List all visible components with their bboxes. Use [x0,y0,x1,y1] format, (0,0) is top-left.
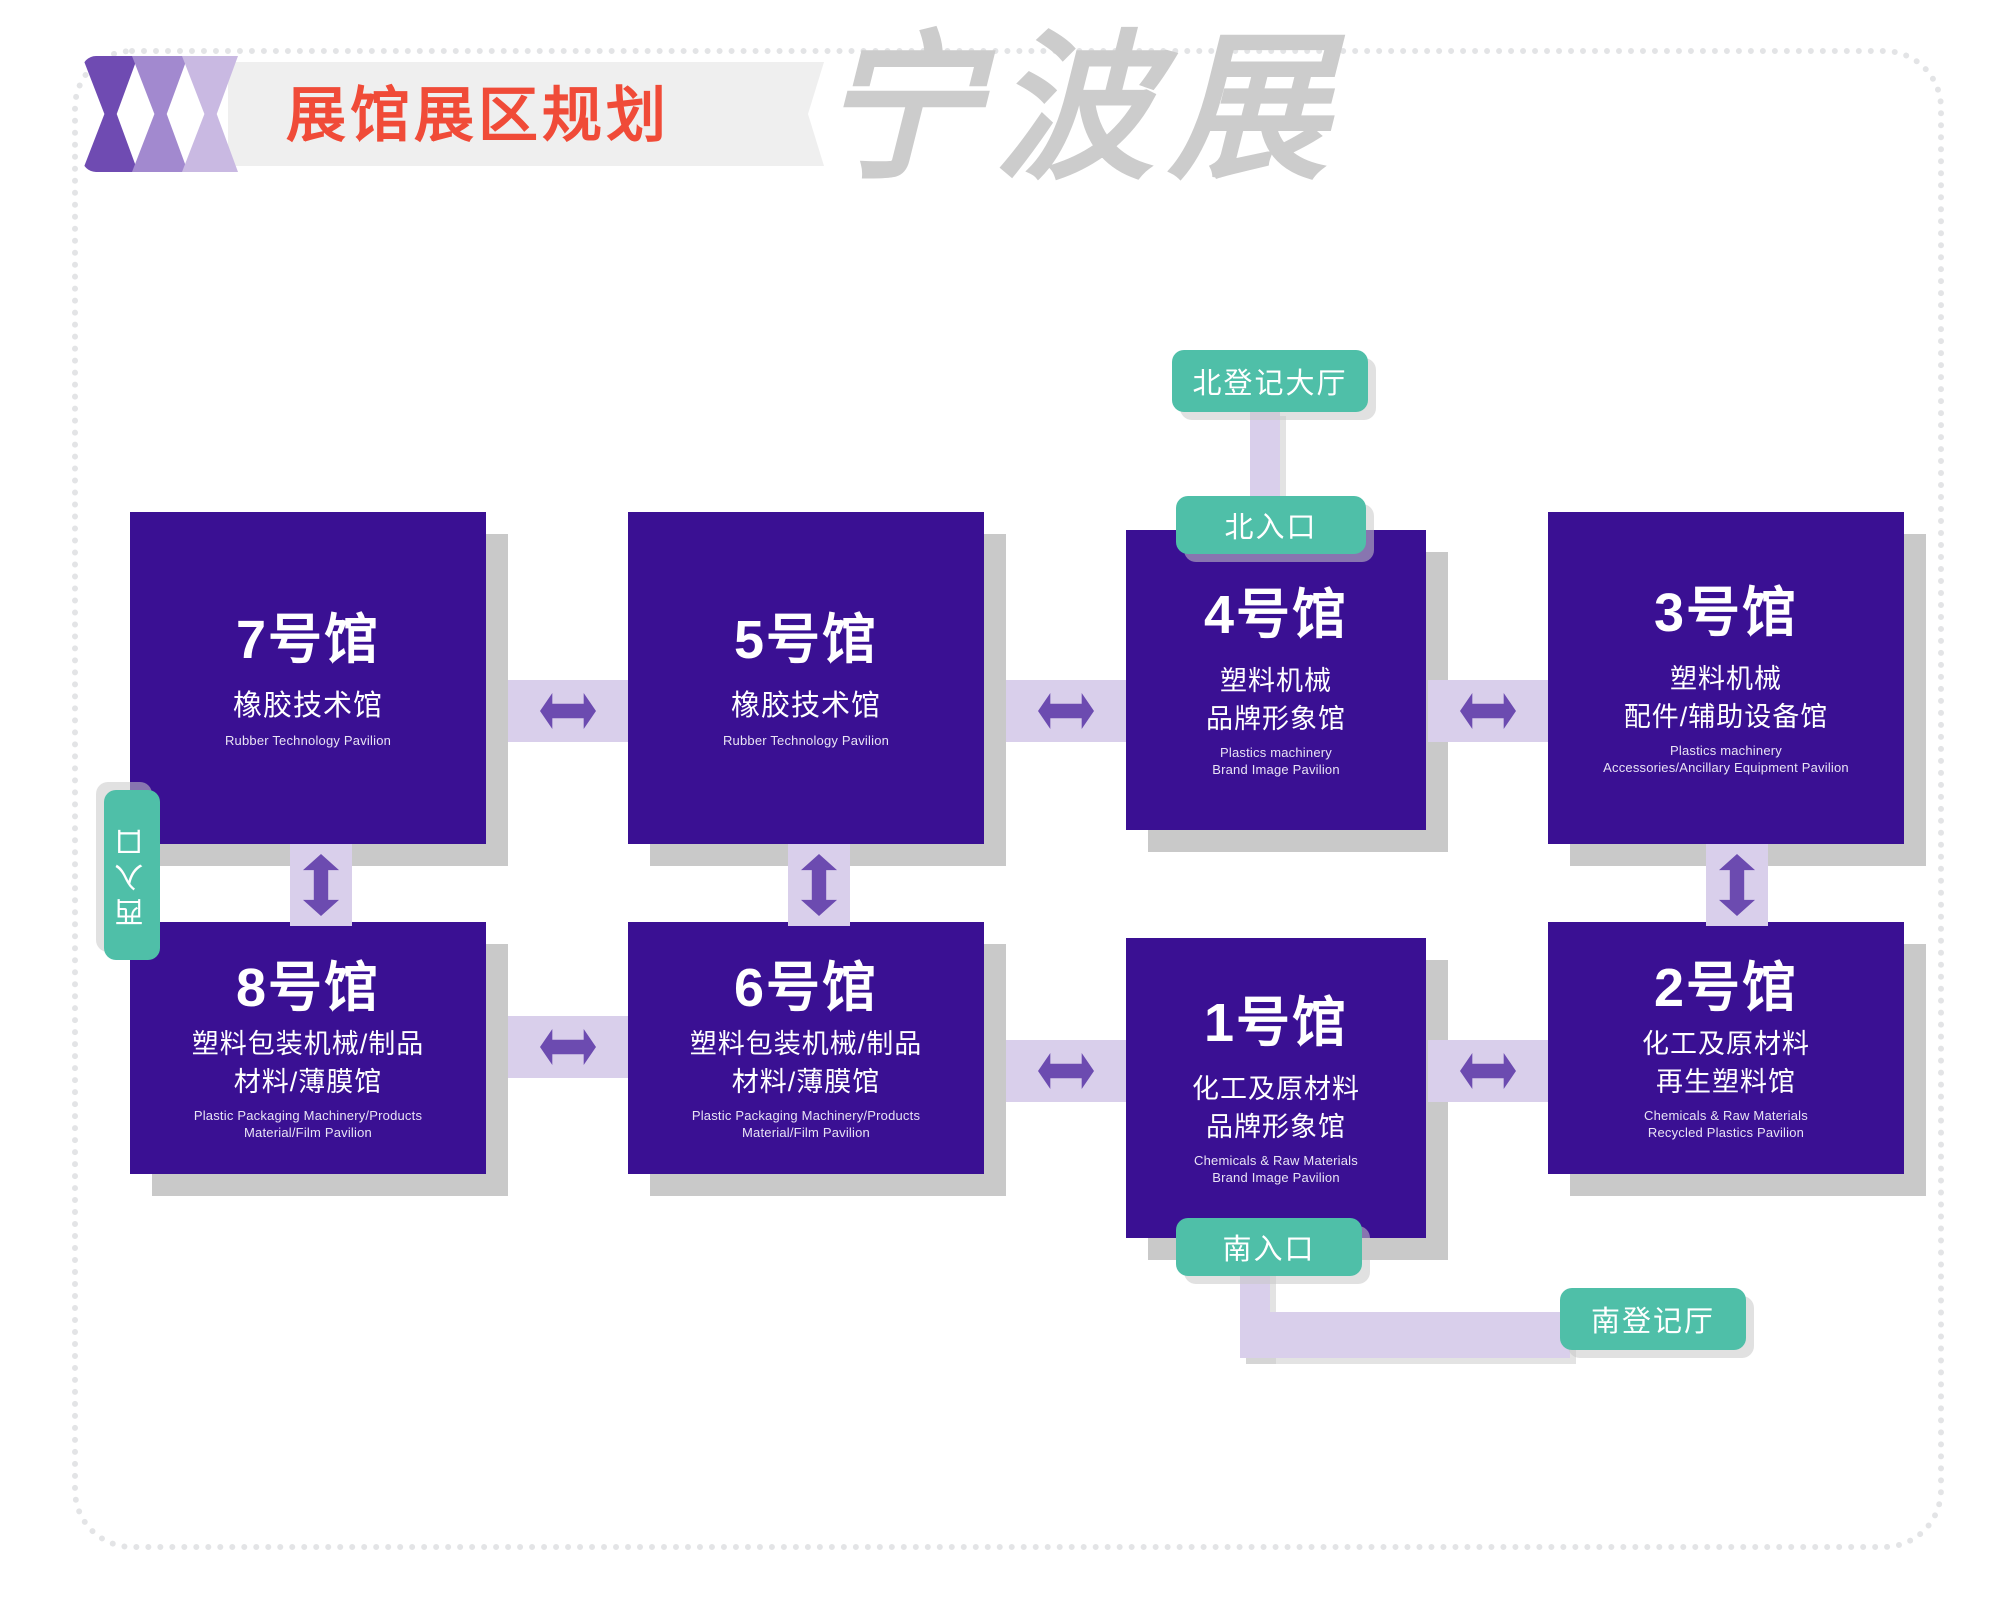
pavilion-hall-5[interactable]: 5号馆 橡胶技术馆 Rubber Technology Pavilion [628,512,984,844]
connector-5-to-6 [788,844,850,926]
pavilion-face: 3号馆 塑料机械 配件/辅助设备馆 Plastics machinery Acc… [1548,512,1904,844]
double-arrow-horizontal-icon [1038,693,1094,729]
pavilion-zh-line-1: 塑料包装机械/制品 [192,1025,425,1063]
pavilion-zh-line-1: 化工及原材料 [1192,1070,1360,1108]
connector-1-to-2 [1428,1040,1548,1102]
double-arrow-vertical-icon [801,854,837,916]
connector-7-to-8 [290,844,352,926]
connector-7-to-5 [508,680,628,742]
pavilion-zh-line-1: 化工及原材料 [1642,1025,1810,1063]
pavilion-face: 6号馆 塑料包装机械/制品 材料/薄膜馆 Plastic Packaging M… [628,922,984,1174]
pavilion-en-line-1: Chemicals & Raw Materials [1644,1107,1808,1124]
pavilion-en-line-1: Rubber Technology Pavilion [723,732,889,749]
pavilion-zh-line-1: 塑料包装机械/制品 [690,1025,923,1063]
watermark-text: 宁波展 [820,14,1342,204]
pavilion-en-line-1: Plastic Packaging Machinery/Products [194,1107,422,1124]
double-arrow-horizontal-icon [540,1029,596,1065]
logo-swoosh-mid-icon [132,56,188,172]
connector-4-to-3 [1428,680,1548,742]
tag-north-entrance[interactable]: 北入口 [1176,496,1366,554]
pavilion-zh-line-1: 塑料机械 [1220,662,1332,700]
pavilion-zh-line-2: 再生塑料馆 [1656,1063,1796,1101]
pavilion-face: 1号馆 化工及原材料 品牌形象馆 Chemicals & Raw Materia… [1126,938,1426,1238]
connector-5-to-4 [1006,680,1126,742]
pavilion-en-line-2: Material/Film Pavilion [742,1124,870,1141]
double-arrow-horizontal-icon [1038,1053,1094,1089]
pavilion-number: 7号馆 [236,607,380,673]
pavilion-en-line-2: Accessories/Ancillary Equipment Pavilion [1603,759,1849,776]
exhibition-floorplan-page: 宁波展 展馆展区规划 北登记大厅 北入口 西入口 7号馆 橡胶技术馆 Rubbe… [0,0,2000,1599]
pavilion-number: 2号馆 [1654,955,1798,1021]
pavilion-hall-1[interactable]: 1号馆 化工及原材料 品牌形象馆 Chemicals & Raw Materia… [1126,938,1426,1238]
path-north-hall-to-entrance [1250,410,1280,500]
tag-south-registration-hall[interactable]: 南登记厅 [1560,1288,1746,1350]
pavilion-number: 4号馆 [1204,582,1348,648]
pavilion-number: 3号馆 [1654,580,1798,646]
logo-swoosh-dark-icon [82,56,138,172]
page-header: 宁波展 展馆展区规划 [0,0,2000,210]
double-arrow-horizontal-icon [1460,693,1516,729]
pavilion-en-line-1: Plastics machinery [1220,744,1332,761]
tag-west-entrance[interactable]: 西入口 [104,790,160,960]
pavilion-face: 5号馆 橡胶技术馆 Rubber Technology Pavilion [628,512,984,844]
double-arrow-horizontal-icon [1460,1053,1516,1089]
pavilion-face: 4号馆 塑料机械 品牌形象馆 Plastics machinery Brand … [1126,530,1426,830]
pavilion-en-line-2: Material/Film Pavilion [244,1124,372,1141]
pavilion-zh-line-1: 橡胶技术馆 [731,687,881,726]
tag-north-registration-hall[interactable]: 北登记大厅 [1172,350,1368,412]
pavilion-zh-line-2: 品牌形象馆 [1206,700,1346,738]
pavilion-zh-line-1: 塑料机械 [1670,660,1782,698]
double-arrow-vertical-icon [303,854,339,916]
pavilion-face: 2号馆 化工及原材料 再生塑料馆 Chemicals & Raw Materia… [1548,922,1904,1174]
connector-3-to-2 [1706,844,1768,926]
tag-south-entrance[interactable]: 南入口 [1176,1218,1362,1276]
pavilion-zh-line-1: 橡胶技术馆 [233,687,383,726]
pavilion-number: 8号馆 [236,955,380,1021]
pavilion-hall-6[interactable]: 6号馆 塑料包装机械/制品 材料/薄膜馆 Plastic Packaging M… [628,922,984,1174]
pavilion-zh-line-2: 配件/辅助设备馆 [1624,698,1829,736]
pavilion-hall-8[interactable]: 8号馆 塑料包装机械/制品 材料/薄膜馆 Plastic Packaging M… [130,922,486,1174]
connector-8-to-6 [508,1016,628,1078]
pavilion-face: 7号馆 橡胶技术馆 Rubber Technology Pavilion [130,512,486,844]
pavilion-hall-7[interactable]: 7号馆 橡胶技术馆 Rubber Technology Pavilion [130,512,486,844]
connector-6-to-1 [1006,1040,1126,1102]
pavilion-number: 1号馆 [1204,990,1348,1056]
pavilion-zh-line-2: 材料/薄膜馆 [732,1063,881,1101]
pavilion-en-line-1: Chemicals & Raw Materials [1194,1152,1358,1169]
pavilion-en-line-1: Plastics machinery [1670,742,1782,759]
pavilion-en-line-2: Recycled Plastics Pavilion [1648,1124,1804,1141]
page-title: 展馆展区规划 [286,70,670,162]
pavilion-en-line-2: Brand Image Pavilion [1212,761,1340,778]
pavilion-zh-line-2: 材料/薄膜馆 [234,1063,383,1101]
pavilion-hall-3[interactable]: 3号馆 塑料机械 配件/辅助设备馆 Plastics machinery Acc… [1548,512,1904,844]
pavilion-face: 8号馆 塑料包装机械/制品 材料/薄膜馆 Plastic Packaging M… [130,922,486,1174]
pavilion-en-line-1: Rubber Technology Pavilion [225,732,391,749]
pavilion-number: 6号馆 [734,955,878,1021]
logo-swoosh-light-icon [182,56,238,172]
pavilion-hall-4[interactable]: 4号馆 塑料机械 品牌形象馆 Plastics machinery Brand … [1126,530,1426,830]
pavilion-en-line-2: Brand Image Pavilion [1212,1169,1340,1186]
path-south-horizontal [1240,1312,1570,1358]
double-arrow-vertical-icon [1719,854,1755,916]
pavilion-zh-line-2: 品牌形象馆 [1206,1108,1346,1146]
pavilion-en-line-1: Plastic Packaging Machinery/Products [692,1107,920,1124]
pavilion-number: 5号馆 [734,607,878,673]
pavilion-hall-2[interactable]: 2号馆 化工及原材料 再生塑料馆 Chemicals & Raw Materia… [1548,922,1904,1174]
double-arrow-horizontal-icon [540,693,596,729]
